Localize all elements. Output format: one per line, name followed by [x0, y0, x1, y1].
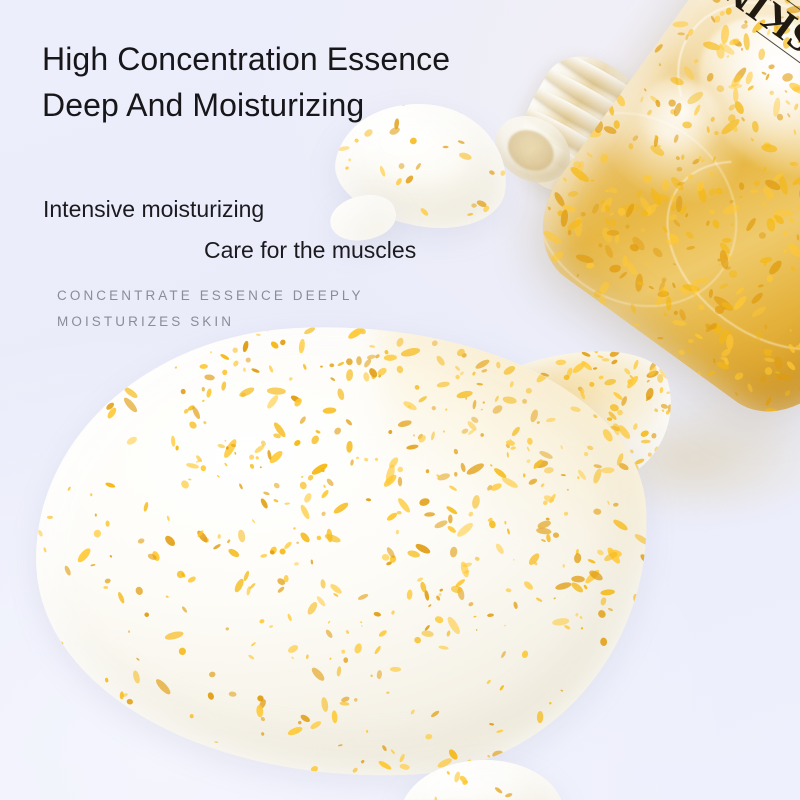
headline: High Concentration Essence Deep And Mois… [42, 36, 450, 128]
gel-droplet-bottom [400, 760, 564, 800]
caption-line-1: CONCENTRATE ESSENCE DEEPLY [57, 283, 364, 309]
gold-flakes-droplet-bottom [400, 760, 564, 800]
headline-line-1: High Concentration Essence [42, 36, 450, 82]
subheading-line-1: Intensive moisturizing [43, 194, 264, 224]
subheading-line-2: Care for the muscles [204, 235, 416, 265]
product-banner: Beauty Essence 24K GOLDSKIN Tender Moist… [0, 0, 800, 800]
caption: CONCENTRATE ESSENCE DEEPLY MOISTURIZES S… [57, 283, 364, 335]
gold-flakes-puddle [25, 310, 660, 793]
headline-line-2: Deep And Moisturizing [42, 82, 450, 128]
gel-puddle [25, 310, 660, 793]
caption-line-2: MOISTURIZES SKIN [57, 309, 364, 335]
